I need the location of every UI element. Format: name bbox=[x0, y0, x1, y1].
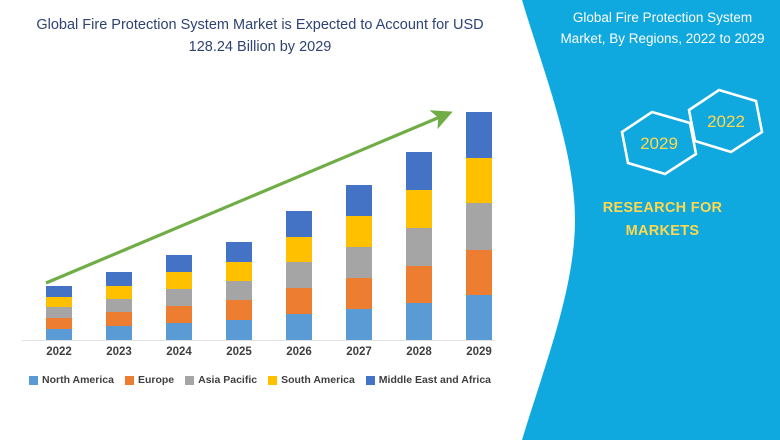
legend-label: Europe bbox=[138, 374, 174, 386]
legend-item[interactable]: South America bbox=[268, 374, 355, 386]
legend-item[interactable]: North America bbox=[29, 374, 114, 386]
bar-segment bbox=[166, 289, 192, 306]
infographic-root: Global Fire Protection System Market is … bbox=[0, 0, 780, 440]
legend-item[interactable]: Europe bbox=[125, 374, 174, 386]
hexagon-group-icon: 2022 2029 bbox=[590, 88, 780, 178]
bar-segment bbox=[466, 295, 492, 340]
x-axis-label: 2023 bbox=[89, 346, 149, 358]
bar-segment bbox=[406, 303, 432, 340]
bar-segment bbox=[286, 262, 312, 288]
bar-segment bbox=[226, 262, 252, 281]
bar-segment bbox=[286, 314, 312, 340]
bar-segment bbox=[46, 307, 72, 318]
bar-segment bbox=[106, 286, 132, 299]
legend-swatch bbox=[268, 376, 277, 385]
bar-segment bbox=[226, 320, 252, 340]
legend-swatch bbox=[125, 376, 134, 385]
bar-segment bbox=[166, 306, 192, 323]
bar-segment bbox=[406, 152, 432, 190]
bar-segment bbox=[46, 318, 72, 329]
legend-swatch bbox=[185, 376, 194, 385]
bar-segment bbox=[106, 312, 132, 326]
bar-segment bbox=[346, 309, 372, 340]
brand-panel-title: Global Fire Protection System Market, By… bbox=[550, 8, 775, 50]
legend-label: South America bbox=[281, 374, 355, 386]
bar-column bbox=[286, 211, 312, 340]
legend-label: Asia Pacific bbox=[198, 374, 257, 386]
brand-line-2: MARKETS bbox=[550, 220, 775, 243]
bar-segment bbox=[466, 158, 492, 203]
legend-label: North America bbox=[42, 374, 114, 386]
bar-column bbox=[46, 286, 72, 340]
bar-column bbox=[466, 112, 492, 340]
brand-line-1: RESEARCH FOR bbox=[550, 197, 775, 220]
bar-segment bbox=[166, 272, 192, 289]
hexagon-2022-label: 2022 bbox=[707, 112, 745, 131]
legend-label: Middle East and Africa bbox=[379, 374, 491, 386]
bar-segment bbox=[466, 203, 492, 250]
bar-segment bbox=[166, 323, 192, 340]
legend-swatch bbox=[366, 376, 375, 385]
legend-item[interactable]: Middle East and Africa bbox=[366, 374, 491, 386]
bar-segment bbox=[46, 286, 72, 297]
x-axis-line bbox=[22, 340, 502, 341]
bar-column bbox=[226, 242, 252, 340]
bar-segment bbox=[466, 250, 492, 295]
bar-column bbox=[406, 152, 432, 340]
bars-layer bbox=[0, 0, 520, 340]
x-axis-label: 2024 bbox=[149, 346, 209, 358]
x-axis-labels: 20222023202420252026202720282029 bbox=[0, 346, 520, 368]
bar-segment bbox=[46, 297, 72, 307]
bar-segment bbox=[106, 299, 132, 312]
x-axis-label: 2027 bbox=[329, 346, 389, 358]
x-axis-label: 2022 bbox=[29, 346, 89, 358]
chart-legend: North AmericaEuropeAsia PacificSouth Ame… bbox=[0, 374, 520, 386]
bar-segment bbox=[106, 326, 132, 340]
bar-segment bbox=[406, 228, 432, 266]
bar-segment bbox=[106, 272, 132, 286]
bar-segment bbox=[226, 300, 252, 320]
bar-segment bbox=[406, 190, 432, 228]
x-axis-label: 2028 bbox=[389, 346, 449, 358]
bar-segment bbox=[286, 211, 312, 237]
bar-segment bbox=[46, 329, 72, 340]
legend-swatch bbox=[29, 376, 38, 385]
bar-segment bbox=[226, 281, 252, 300]
bar-segment bbox=[406, 266, 432, 303]
bar-segment bbox=[286, 288, 312, 314]
chart-panel: Global Fire Protection System Market is … bbox=[0, 0, 520, 440]
brand-wordmark: RESEARCH FOR MARKETS bbox=[550, 197, 775, 243]
bar-segment bbox=[346, 247, 372, 278]
x-axis-label: 2025 bbox=[209, 346, 269, 358]
bar-segment bbox=[226, 242, 252, 262]
hexagon-badges: 2022 2029 bbox=[590, 88, 780, 178]
bar-segment bbox=[346, 216, 372, 247]
bar-segment bbox=[466, 112, 492, 158]
bar-column bbox=[166, 255, 192, 340]
bar-segment bbox=[346, 185, 372, 216]
bar-segment bbox=[286, 237, 312, 262]
legend-item[interactable]: Asia Pacific bbox=[185, 374, 257, 386]
x-axis-label: 2026 bbox=[269, 346, 329, 358]
hexagon-2029-label: 2029 bbox=[640, 134, 678, 153]
bar-segment bbox=[166, 255, 192, 272]
bar-column bbox=[106, 272, 132, 340]
bar-column bbox=[346, 185, 372, 340]
brand-panel: Global Fire Protection System Market, By… bbox=[495, 0, 780, 440]
bar-segment bbox=[346, 278, 372, 309]
